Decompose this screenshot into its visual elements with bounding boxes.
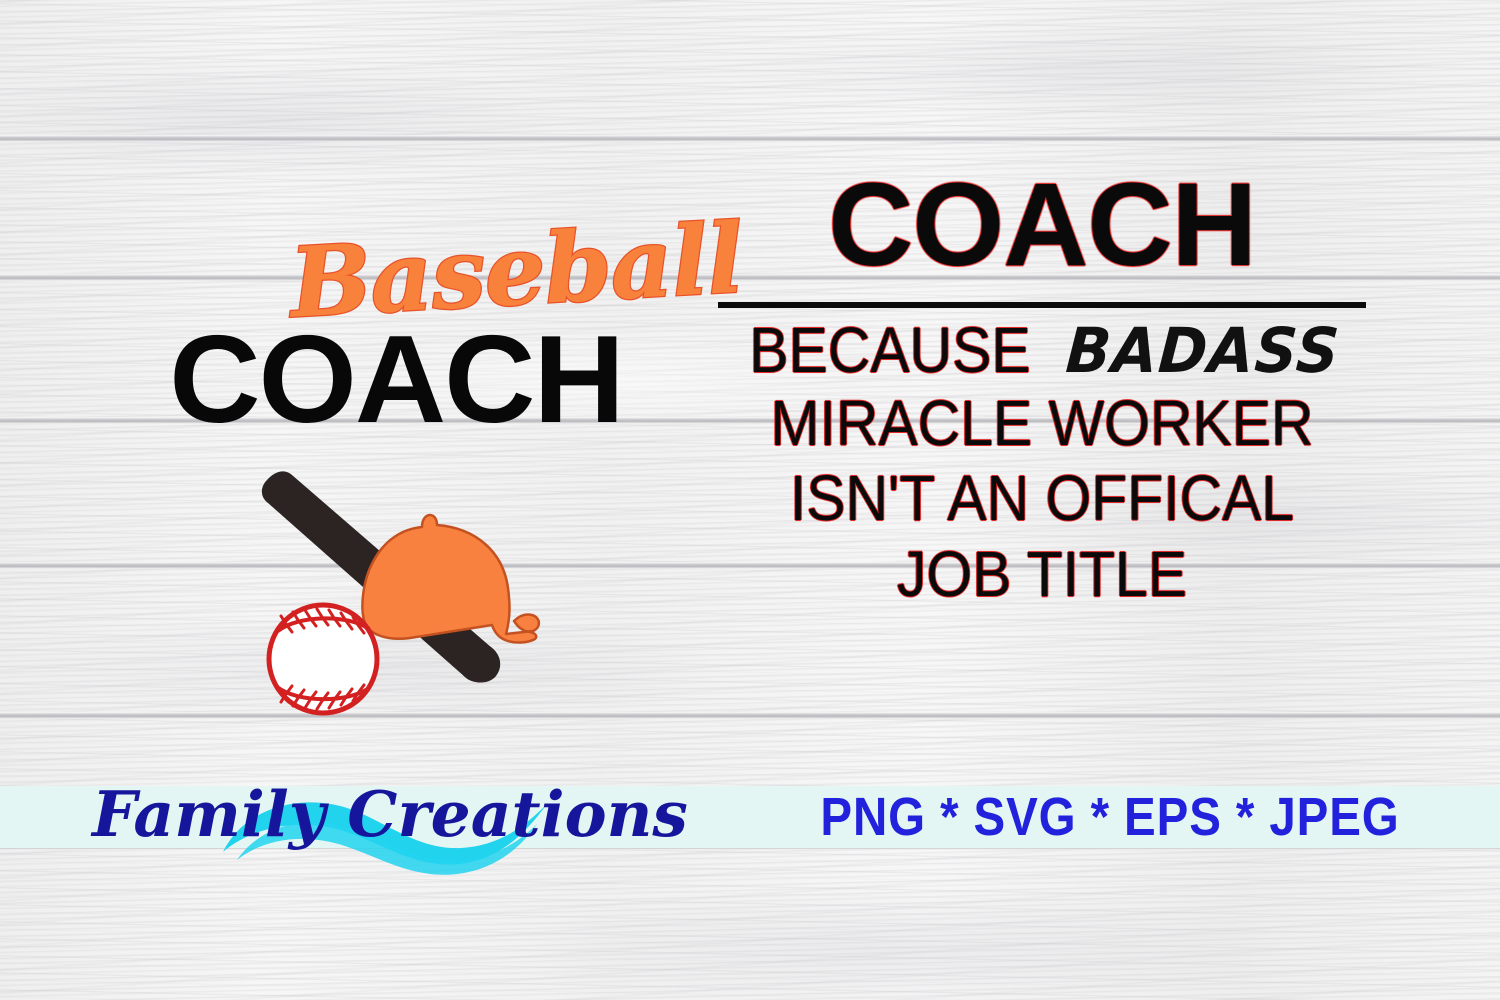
- headline-divider: [718, 302, 1366, 308]
- quote-line-miracle-worker: MIRACLE WORKER: [744, 390, 1340, 458]
- quote-badass-text: BADASS: [1064, 320, 1342, 382]
- left-coach-headline: COACH: [82, 318, 710, 442]
- quote-line-because: BECAUSE BADASS: [718, 318, 1366, 382]
- baseball-artwork: [250, 455, 580, 730]
- file-formats-text: PNG * SVG * EPS * JPEG: [881, 784, 1339, 850]
- quote-line-isnt-an-offical: ISN'T AN OFFICAL: [744, 465, 1340, 533]
- right-coach-headline: COACH: [718, 168, 1366, 284]
- quote-block: COACH BECAUSE BADASS MIRACLE WORKER ISN'…: [718, 168, 1366, 609]
- brand-logo: Family Creations: [175, 748, 605, 880]
- quote-line-job-title: JOB TITLE: [744, 541, 1340, 609]
- quote-because-text: BECAUSE: [749, 318, 1030, 382]
- baseball-cap-icon: [362, 515, 538, 643]
- baseball-ball-icon: [269, 605, 377, 713]
- design-canvas: Baseball COACH: [0, 0, 1500, 1000]
- brand-name-text: Family Creations: [175, 748, 605, 880]
